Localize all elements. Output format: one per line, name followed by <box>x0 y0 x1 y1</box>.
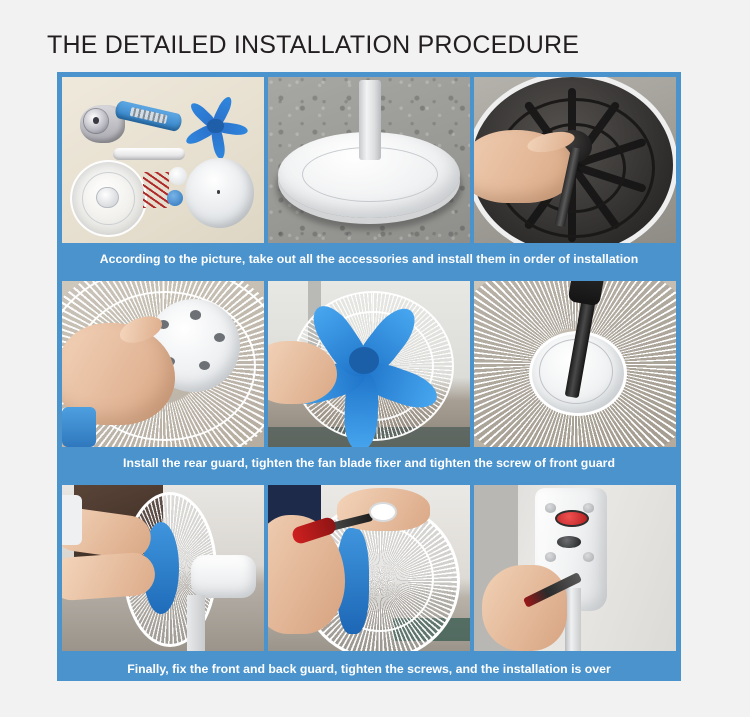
hand-shape <box>482 565 567 651</box>
step-block-3: Finally, fix the front and back guard, t… <box>57 480 681 687</box>
photo-5-scene <box>268 281 470 447</box>
step-block-1: According to the picture, take out all t… <box>57 72 681 276</box>
step-block-2: Install the rear guard, tighten the fan … <box>57 276 681 480</box>
sleeve-shape <box>62 495 82 545</box>
speed-button <box>583 503 595 513</box>
blue-object-shape <box>62 407 96 447</box>
photo-tighten-clip[interactable] <box>268 485 470 651</box>
speed-button <box>583 552 595 562</box>
blade-hub-shape <box>349 347 379 374</box>
blade-hub-shape <box>207 119 223 134</box>
page-title: THE DETAILED INSTALLATION PROCEDURE <box>47 31 579 60</box>
photo-9-scene <box>474 485 676 651</box>
motor-body-shape <box>191 555 256 598</box>
photo-6-scene <box>474 281 676 447</box>
installation-steps-panel: According to the picture, take out all t… <box>57 72 681 681</box>
photo-front-guard-screw[interactable] <box>474 281 676 447</box>
photo-2-scene <box>268 77 470 243</box>
step-3-caption: Finally, fix the front and back guard, t… <box>57 651 681 687</box>
photo-control-housing-screw[interactable] <box>474 485 676 651</box>
wiring-harness-shape <box>143 172 169 209</box>
photo-rear-guard-install[interactable] <box>62 281 264 447</box>
photo-fit-front-guard[interactable] <box>62 485 264 651</box>
motor-vent <box>199 361 210 370</box>
photo-row-1 <box>57 72 681 243</box>
arm-shape <box>62 551 156 601</box>
front-guard-shape <box>185 158 254 228</box>
motor-vent <box>214 333 225 342</box>
photo-blade-install[interactable] <box>268 281 470 447</box>
step-1-caption: According to the picture, take out all t… <box>57 243 681 276</box>
photo-base-screw[interactable] <box>474 77 676 243</box>
photo-base-and-pole[interactable] <box>268 77 470 243</box>
blade-cap-shape <box>169 167 187 185</box>
photo-3-scene <box>474 77 676 243</box>
photo-4-scene <box>62 281 264 447</box>
fan-stand-shape <box>187 595 205 651</box>
speed-button <box>545 552 557 562</box>
photo-7-scene <box>62 485 264 651</box>
speed-button <box>545 503 557 513</box>
fan-pole-shape <box>359 80 381 160</box>
fan-pole-shape <box>565 588 581 651</box>
power-button-red <box>555 510 589 527</box>
step-2-caption: Install the rear guard, tighten the fan … <box>57 447 681 480</box>
guard-hub-shape <box>96 187 118 209</box>
oscillation-knob <box>557 536 581 548</box>
photo-row-2 <box>57 276 681 447</box>
photo-parts-overview[interactable] <box>62 77 264 243</box>
photo-8-scene <box>268 485 470 651</box>
extension-tube-shape <box>113 148 186 160</box>
photo-row-3 <box>57 480 681 651</box>
photo-1-scene <box>62 77 264 243</box>
motor-vent <box>190 310 201 319</box>
